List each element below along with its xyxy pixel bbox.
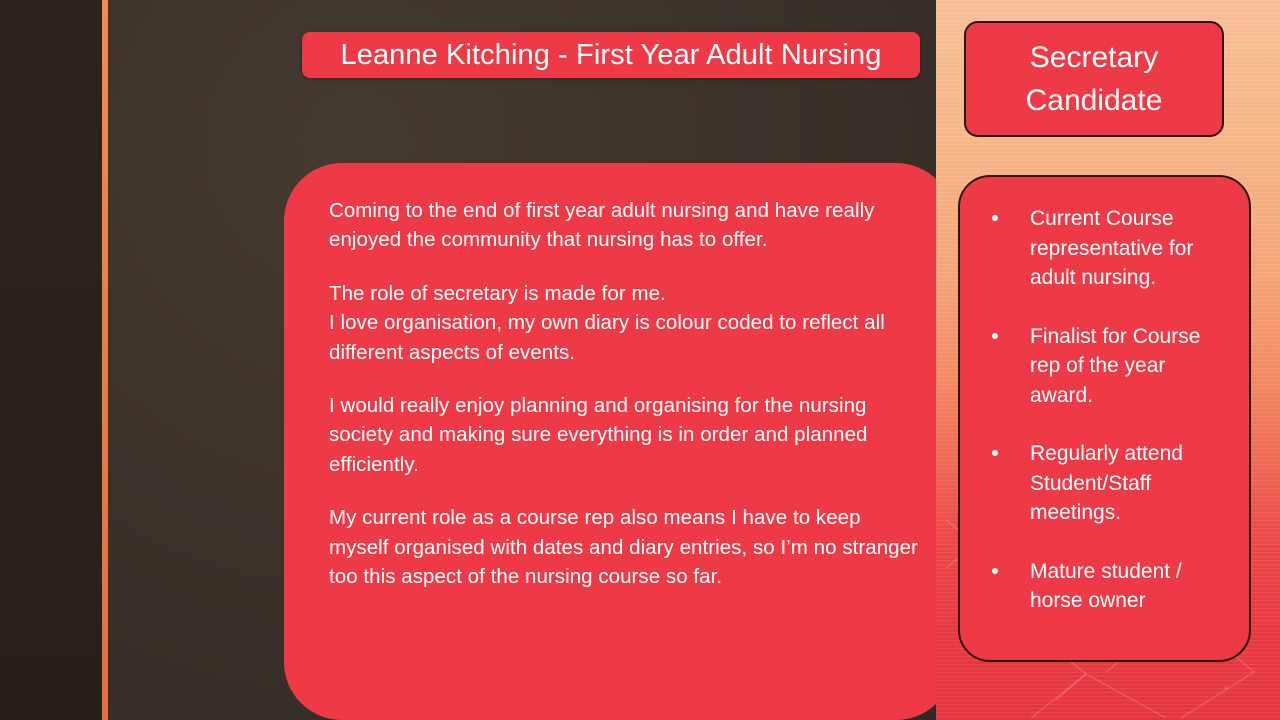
slide-canvas: Leanne Kitching - First Year Adult Nursi…	[0, 0, 1280, 720]
list-item: Finalist for Course rep of the year awar…	[978, 322, 1233, 411]
main-body-card: Coming to the end of first year adult nu…	[284, 163, 954, 720]
body-paragraph-4: My current role as a course rep also mea…	[329, 503, 919, 591]
right-sidebar-panel: Secretary Candidate Current Course repre…	[936, 0, 1280, 720]
bullet-dot-icon	[992, 568, 998, 574]
body-paragraph-3: I would really enjoy planning and organi…	[329, 391, 919, 479]
page-title: Leanne Kitching - First Year Adult Nursi…	[340, 41, 881, 70]
slide-title-banner: Leanne Kitching - First Year Adult Nursi…	[302, 32, 920, 78]
main-body-text-container: Coming to the end of first year adult nu…	[329, 196, 919, 591]
sidebar-bullet-list: Current Course representative for adult …	[978, 204, 1233, 616]
list-item: Current Course representative for adult …	[978, 204, 1233, 293]
sidebar-header-card: Secretary Candidate	[964, 21, 1224, 137]
body-paragraph-1: Coming to the end of first year adult nu…	[329, 196, 919, 255]
bullet-dot-icon	[992, 450, 998, 456]
body-paragraph-2: The role of secretary is made for me. I …	[329, 279, 919, 367]
list-item-label: Current Course representative for adult …	[1030, 207, 1193, 289]
list-item-label: Regularly attend Student/Staff meetings.	[1030, 442, 1183, 524]
list-item-label: Mature student / horse owner	[1030, 560, 1182, 613]
list-item: Mature student / horse owner	[978, 557, 1233, 616]
sidebar-bullet-card: Current Course representative for adult …	[958, 175, 1251, 662]
bullet-dot-icon	[992, 333, 998, 339]
list-item: Regularly attend Student/Staff meetings.	[978, 439, 1233, 528]
left-dark-band	[0, 0, 102, 720]
list-item-label: Finalist for Course rep of the year awar…	[1030, 325, 1200, 407]
bullet-dot-icon	[992, 215, 998, 221]
sidebar-header-label: Secretary Candidate	[966, 36, 1222, 122]
main-content-area: Leanne Kitching - First Year Adult Nursi…	[108, 0, 936, 720]
